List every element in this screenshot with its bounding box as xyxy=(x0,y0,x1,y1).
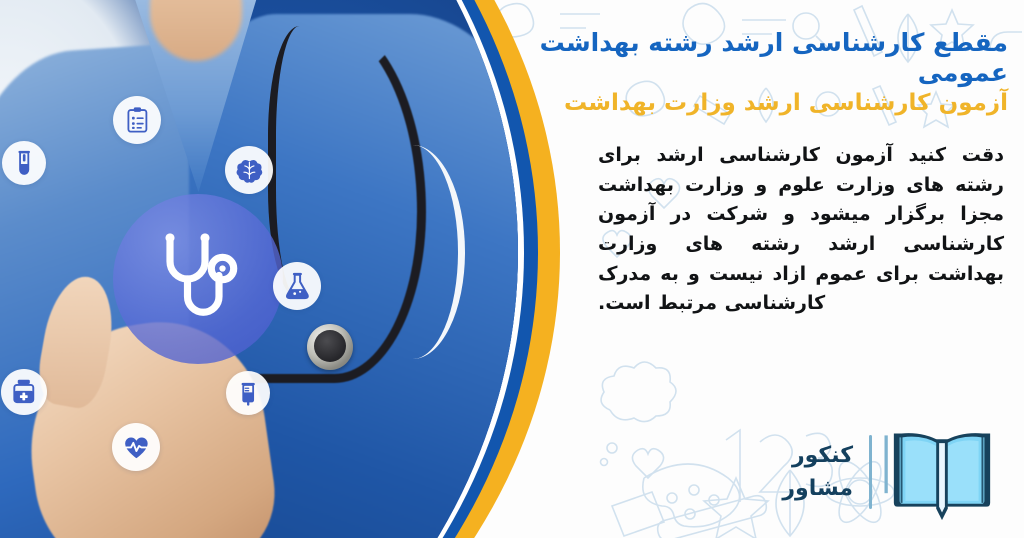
banner-canvas: مقطع کارشناسی ارشد رشته بهداشت عمومی آزم… xyxy=(0,0,1024,538)
stethoscope-icon-bubble[interactable] xyxy=(113,194,283,364)
clipboard-checklist-icon xyxy=(123,106,152,135)
brain-icon-bubble[interactable] xyxy=(225,146,273,194)
medicine-bottle-icon-bubble[interactable] xyxy=(1,369,47,415)
open-book-with-pencil-icon xyxy=(884,420,1000,524)
brand-name-line2: مشاور xyxy=(782,472,853,505)
brain-icon xyxy=(235,156,264,185)
stethoscope-ear-tube xyxy=(360,145,465,360)
brand-logo[interactable]: کنکور مشاور xyxy=(782,420,1000,524)
test-tube-icon-bubble[interactable] xyxy=(2,141,46,185)
medicine-bottle-icon xyxy=(10,378,38,406)
stethoscope-chestpiece xyxy=(307,324,353,370)
heart-pulse-icon xyxy=(122,433,151,462)
clipboard-checklist-icon-bubble[interactable] xyxy=(113,96,161,144)
syringe-icon xyxy=(235,380,261,406)
heart-pulse-icon-bubble[interactable] xyxy=(112,423,160,471)
erlenmeyer-flask-icon-bubble[interactable] xyxy=(273,262,321,310)
syringe-icon-bubble[interactable] xyxy=(226,371,270,415)
brand-name-line1: کنکور xyxy=(782,439,853,472)
erlenmeyer-flask-icon xyxy=(283,272,312,301)
brand-logo-text: کنکور مشاور xyxy=(782,439,857,505)
page-subtitle: آزمون کارشناسی ارشد وزارت بهداشت xyxy=(516,90,1008,118)
test-tube-icon xyxy=(11,150,37,176)
content-column: مقطع کارشناسی ارشد رشته بهداشت عمومی آزم… xyxy=(498,0,1024,538)
page-title: مقطع کارشناسی ارشد رشته بهداشت عمومی xyxy=(516,28,1008,88)
body-paragraph: دقت کنید آزمون کارشناسی ارشد برای رشته ه… xyxy=(598,141,1004,319)
logo-divider xyxy=(869,435,872,509)
stethoscope-icon xyxy=(142,223,254,335)
